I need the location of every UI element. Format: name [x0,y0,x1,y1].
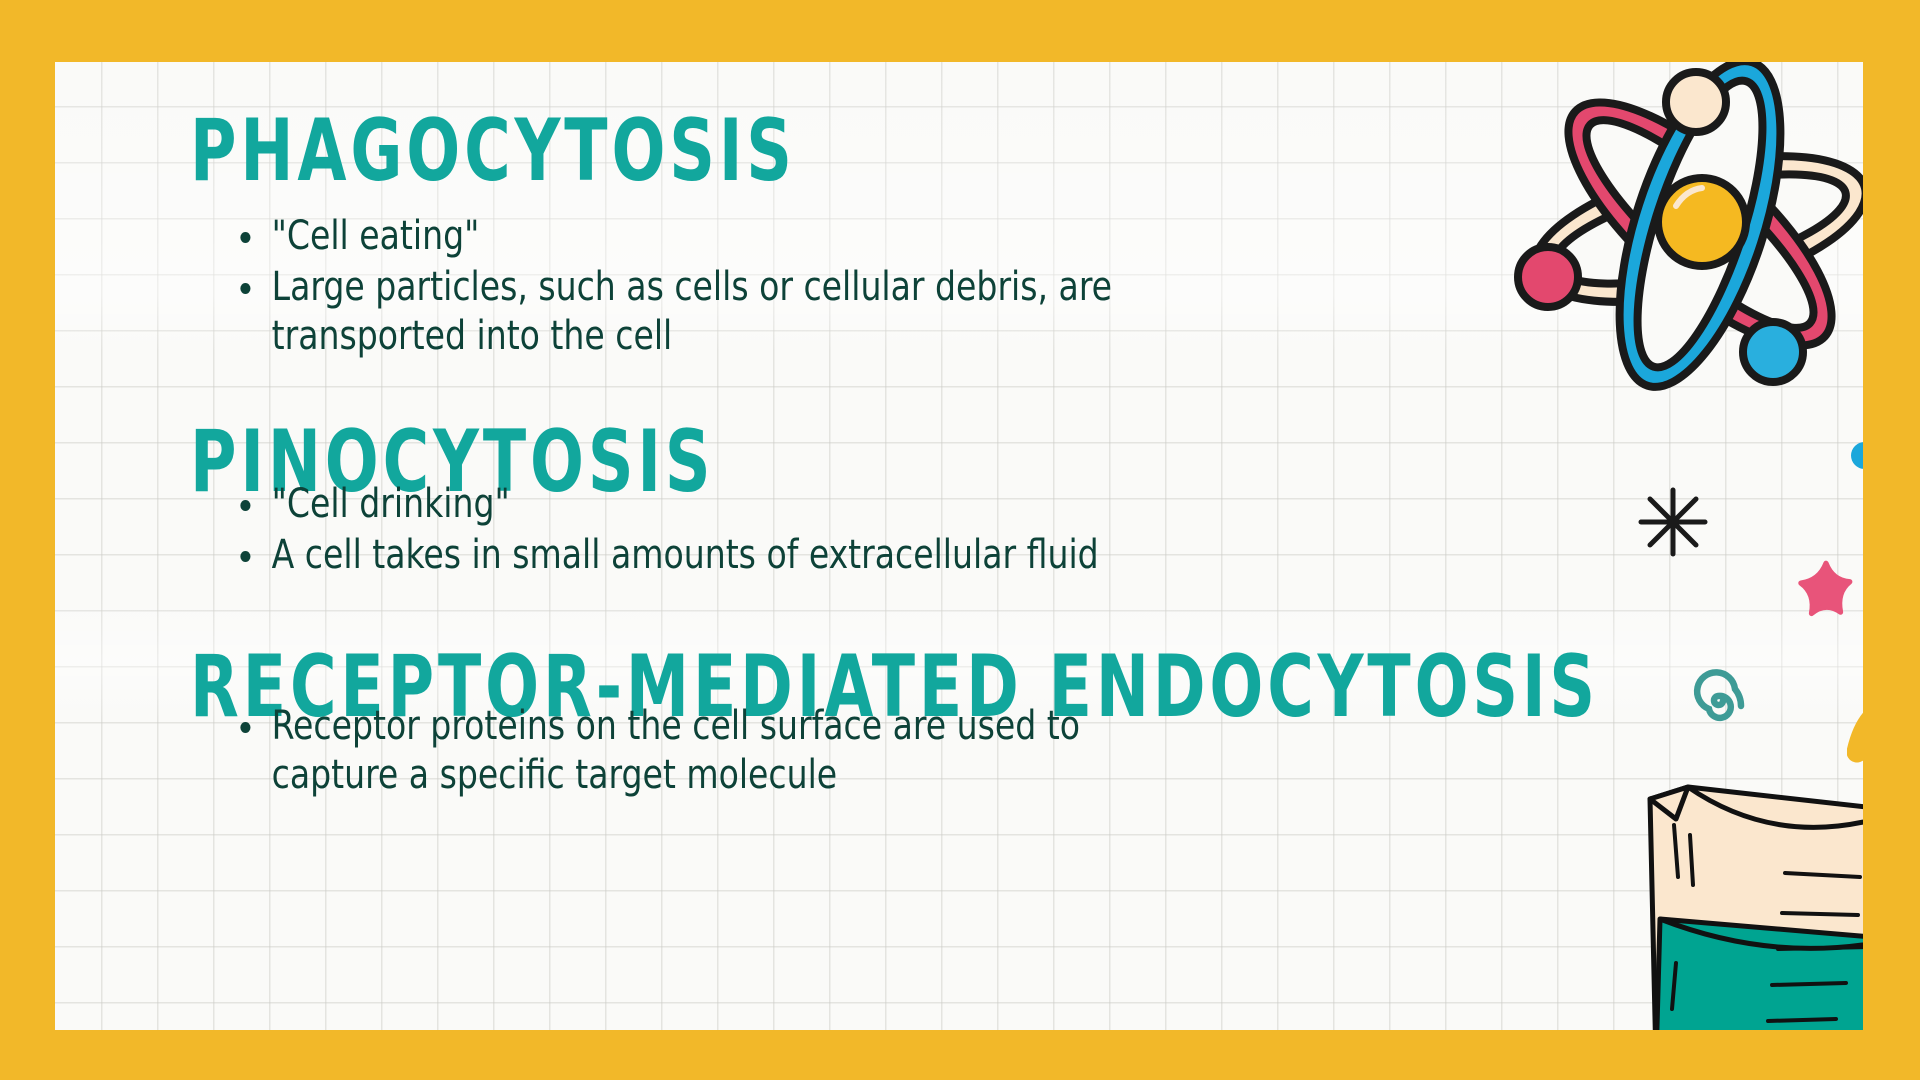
asterisk-sparkle-icon [1633,482,1713,562]
bullet-list-pinocytosis: "Cell drinking" A cell takes in small am… [233,480,1273,582]
beaker-icon [1630,767,1863,1030]
list-item: Receptor proteins on the cell surface ar… [233,702,1208,800]
bullet-list-phagocytosis: "Cell eating" Large particles, such as c… [233,212,1363,362]
slide-root: PHAGOCYTOSIS "Cell eating" Large particl… [0,0,1920,1080]
blue-dot-icon [1851,442,1863,469]
atom-nucleus [1658,178,1746,266]
atom-electron-top [1666,72,1726,132]
list-item: "Cell drinking" [233,480,1190,529]
heading-phagocytosis: PHAGOCYTOSIS [190,108,796,194]
list-item: Large particles, such as cells or cellul… [233,263,1273,361]
atom-electron-bottom [1743,322,1803,382]
list-item: "Cell eating" [233,212,1273,261]
grid-paper-canvas: PHAGOCYTOSIS "Cell eating" Large particl… [55,62,1863,1030]
teal-spiral-icon [1687,664,1757,734]
list-item: A cell takes in small amounts of extrace… [233,531,1190,580]
beaker-liquid [1656,919,1863,1030]
pink-star-icon [1793,558,1859,624]
yellow-arc-icon [1847,694,1863,764]
text-content-column: PHAGOCYTOSIS "Cell eating" Large particl… [55,62,1555,1030]
bullet-list-receptor-mediated-endocytosis: Receptor proteins on the cell surface ar… [233,702,1293,802]
